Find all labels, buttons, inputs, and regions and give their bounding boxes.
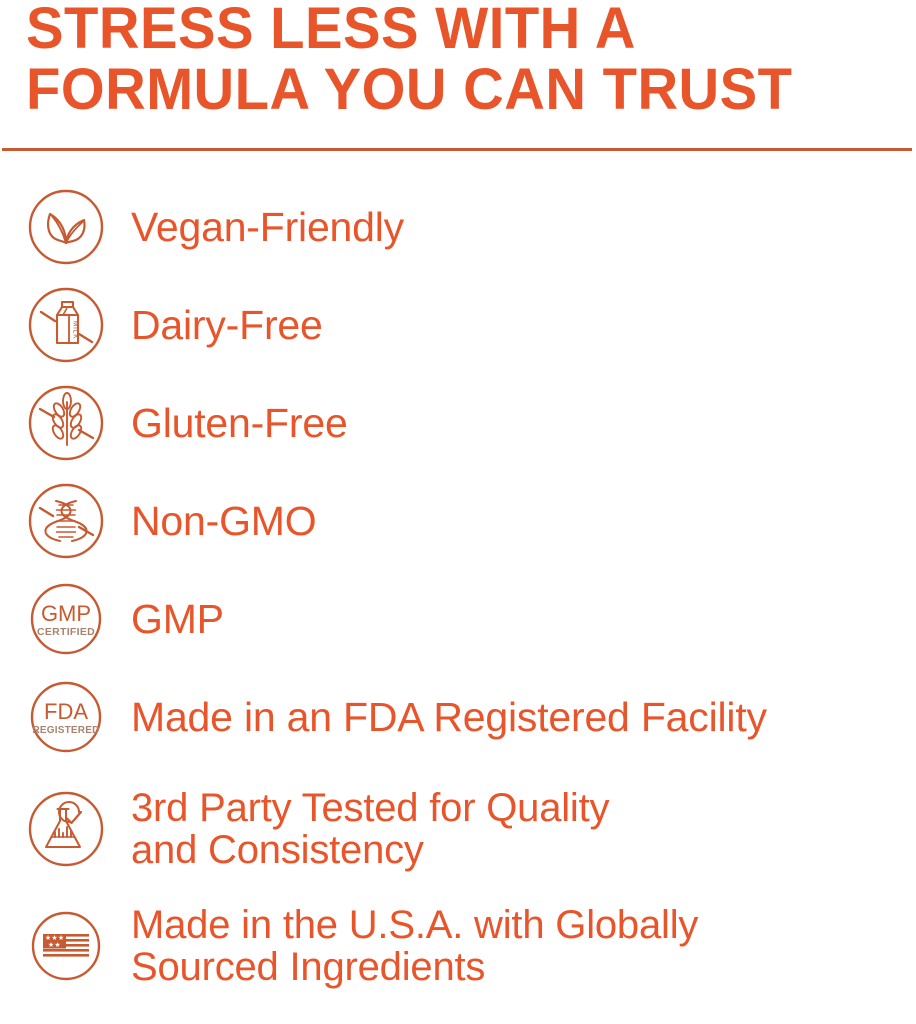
list-item-label: Vegan-Friendly [131, 205, 404, 249]
list-item: Gluten-Free [0, 374, 916, 472]
list-item-label: Made in an FDA Registered Facility [131, 695, 767, 739]
list-item: ★ ★ ★ ★ ★ Made in the U.S.A. with Global… [0, 891, 916, 1001]
gmp-secondary-text: CERTIFIED [37, 626, 95, 638]
gmp-primary-text: GMP [41, 601, 91, 626]
gluten-free-wheat-icon [26, 383, 106, 463]
header-divider [2, 148, 912, 151]
list-item: Vegan-Friendly [0, 178, 916, 276]
badge-list: Vegan-Friendly MILK Dairy- [0, 178, 916, 1001]
usa-flag-icon: ★ ★ ★ ★ ★ [26, 906, 106, 986]
list-item-label: GMP [131, 597, 224, 641]
list-item-label: Non-GMO [131, 499, 316, 543]
list-item-label: Gluten-Free [131, 401, 348, 445]
vegan-leaf-icon [26, 187, 106, 267]
certification-badges-panel: STRESS LESS WITH A FORMULA YOU CAN TRUST… [0, 0, 916, 1024]
page-title: STRESS LESS WITH A FORMULA YOU CAN TRUST [26, 0, 870, 120]
list-item-label: Made in the U.S.A. with Globally Sourced… [131, 904, 698, 988]
svg-text:★: ★ [54, 941, 60, 949]
fda-primary-text: FDA [44, 699, 88, 724]
fda-registered-icon: FDA REGISTERED [26, 677, 106, 757]
lab-flask-check-icon [26, 789, 106, 869]
list-item: GMP CERTIFIED GMP [0, 570, 916, 668]
svg-text:★: ★ [48, 941, 54, 949]
dairy-free-milk-carton-icon: MILK [26, 285, 106, 365]
list-item: FDA REGISTERED Made in an FDA Registered… [0, 668, 916, 766]
non-gmo-dna-icon [26, 481, 106, 561]
list-item-label: 3rd Party Tested for Quality and Consist… [131, 787, 609, 871]
list-item: 3rd Party Tested for Quality and Consist… [0, 766, 916, 891]
fda-secondary-text: REGISTERED [32, 725, 99, 736]
list-item: MILK Dairy-Free [0, 276, 916, 374]
list-item: Non-GMO [0, 472, 916, 570]
list-item-label: Dairy-Free [131, 303, 323, 347]
gmp-certified-icon: GMP CERTIFIED [26, 579, 106, 659]
milk-carton-text: MILK [72, 321, 79, 340]
